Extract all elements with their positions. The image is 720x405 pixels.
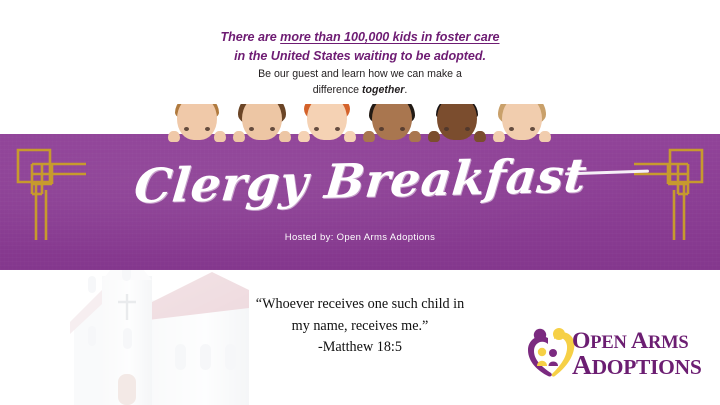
- subhead-period: .: [404, 84, 407, 96]
- kid-photo-2: [231, 104, 293, 142]
- logo-line-adoptions: ADOPTIONS: [572, 352, 698, 378]
- headline-statistic: There are more than 100,000 kids in fost…: [0, 28, 720, 65]
- event-title-block: Clergy Breakfast Hosted by: Open Arms Ad…: [0, 158, 720, 243]
- open-arms-heart-figures-icon: [524, 326, 578, 380]
- headline-plain-text: There are: [220, 30, 280, 44]
- subhead-plain-text: difference: [313, 84, 362, 96]
- kid-photo-4: [361, 104, 423, 142]
- logo-text-doptions: DOPTIONS: [592, 355, 702, 379]
- kid-photo-1: [166, 104, 228, 142]
- subhead-line-2: difference together.: [0, 83, 720, 99]
- hosted-by-text: Hosted by: Open Arms Adoptions: [0, 232, 720, 243]
- subhead-line-1: Be our guest and learn how we can make a: [0, 67, 720, 83]
- kid-photo-6: [491, 104, 553, 142]
- headline-underlined-text: more than 100,000 kids in foster care: [280, 30, 499, 44]
- organization-logo: OPEN ARMS ADOPTIONS: [524, 324, 696, 384]
- subhead-emphasis-text: together: [362, 84, 404, 96]
- flyer-canvas: There are more than 100,000 kids in fost…: [0, 0, 720, 405]
- logo-text-rms: RMS: [648, 333, 689, 353]
- subheadline-invitation: Be our guest and learn how we can make a…: [0, 67, 720, 99]
- headline-line-1: There are more than 100,000 kids in fost…: [0, 28, 720, 47]
- kid-photo-3: [296, 104, 358, 142]
- kid-photo-5: [426, 104, 488, 142]
- logo-text-pen: PEN: [590, 333, 631, 353]
- children-photo-row: [166, 104, 554, 142]
- headline-line-2: in the United States waiting to be adopt…: [0, 47, 720, 66]
- event-title: Clergy Breakfast: [132, 153, 589, 212]
- logo-cap-a: A: [631, 328, 648, 354]
- logo-wordmark: OPEN ARMS ADOPTIONS: [572, 331, 698, 378]
- quote-line-1: “Whoever receives one such child in: [0, 294, 720, 316]
- logo-cap-a2: A: [572, 349, 592, 380]
